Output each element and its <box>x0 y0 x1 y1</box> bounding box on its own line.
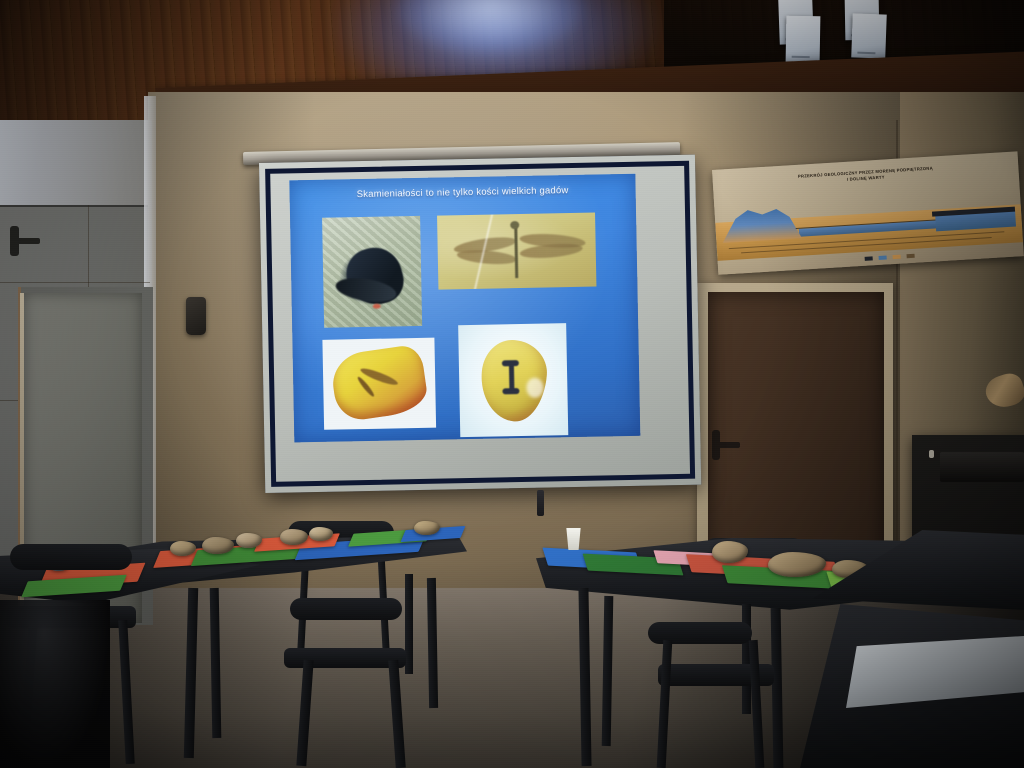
dragonfly-body <box>515 224 519 277</box>
amber-with-lizard-inclusion <box>322 338 436 430</box>
left-door-handle[interactable] <box>14 238 40 244</box>
left-table-leg-back <box>405 574 413 674</box>
dragonfly-wing-4 <box>519 242 583 261</box>
legend-swatch-1 <box>864 256 872 260</box>
legend-swatch-3 <box>892 254 900 258</box>
chair-left-front[interactable] <box>10 544 132 570</box>
hanging-card-4 <box>851 13 887 58</box>
amber-with-insect-inclusion <box>458 323 568 437</box>
insect-inclusion-abdomen <box>503 388 520 394</box>
card-mark <box>857 52 875 55</box>
amber-piece <box>329 343 429 422</box>
geological-cross-section-poster: PRZEKRÓJ GEOLOGICZNY PRZEZ MORENĘ PODPIĘ… <box>712 151 1024 274</box>
slide-title: Skamieniałości to nie tylko kości wielki… <box>290 184 636 202</box>
legend-swatch-4 <box>906 253 914 257</box>
dragonfly-wing-3 <box>456 248 517 266</box>
dragonfly-head <box>511 221 520 229</box>
classroom-photo-scene: PRZEKRÓJ GEOLOGICZNY PRZEZ MORENĘ PODPIĘ… <box>0 0 1024 768</box>
legend-swatch-2 <box>878 255 886 259</box>
wall-speaker <box>186 297 206 335</box>
card-mark <box>792 56 810 58</box>
insect-inclusion-body <box>509 362 515 391</box>
pull-down-projection-screen: Skamieniałości to nie tylko kości wielki… <box>259 155 701 493</box>
projected-slide: Skamieniałości to nie tylko kości wielki… <box>289 174 640 443</box>
stone-spot <box>373 304 381 309</box>
brown-wooden-door[interactable] <box>708 292 884 573</box>
wall-seam-horizontal <box>0 282 150 283</box>
screen-pull-cord[interactable] <box>537 490 544 516</box>
hanging-card-2 <box>786 16 821 63</box>
fossil-dragonfly-in-limestone <box>437 213 596 290</box>
poster-moraine-hill <box>721 205 802 243</box>
fossil-insect-in-stone <box>322 216 422 328</box>
cabinet-knob[interactable] <box>929 450 934 458</box>
chair-center[interactable] <box>290 598 402 620</box>
insect-inclusion-head <box>502 360 519 366</box>
cabinet-shelf-slot <box>940 452 1024 482</box>
right-door-handle[interactable] <box>716 442 740 448</box>
foreground-shadow <box>0 600 110 768</box>
